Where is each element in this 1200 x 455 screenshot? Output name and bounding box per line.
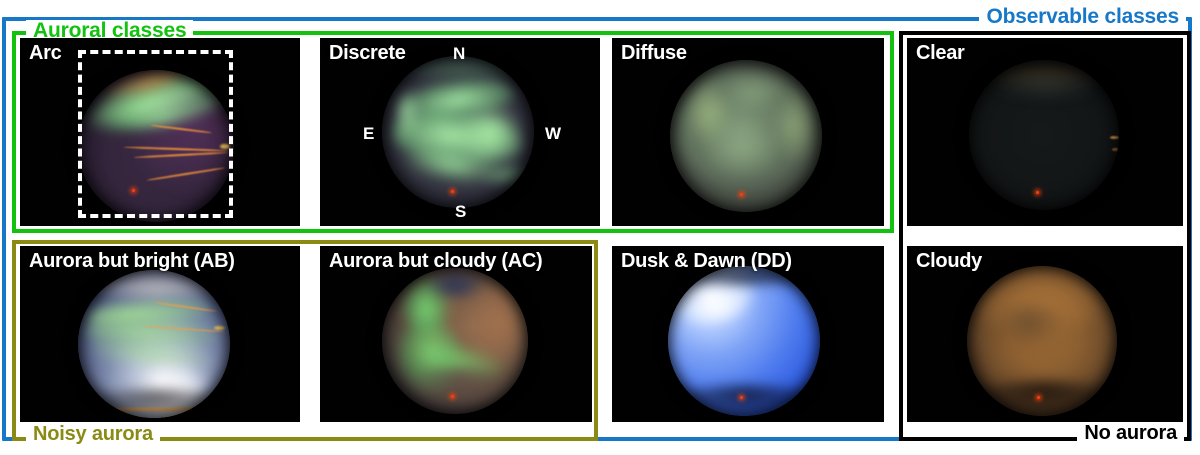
panel-aurora-but-bright[interactable]: Aurora but bright (AB) xyxy=(20,246,300,422)
panel-caption-cloudy: Cloudy xyxy=(916,250,982,273)
compass-label-north: N xyxy=(453,44,465,64)
panel-caption-discrete: Discrete xyxy=(329,42,406,65)
panel-dusk-dawn[interactable]: Dusk & Dawn (DD) xyxy=(612,246,884,422)
compass-label-south: S xyxy=(455,202,466,222)
panel-caption-arc: Arc xyxy=(29,42,61,65)
panel-discrete[interactable]: Discrete N E W S xyxy=(320,38,600,226)
panel-caption-diffuse: Diffuse xyxy=(621,42,687,65)
group-label-no-aurora: No aurora xyxy=(1077,423,1184,443)
aurora-class-figure: Observable classes Auroral classes Noisy… xyxy=(0,0,1200,455)
panel-cloudy[interactable]: Cloudy xyxy=(907,246,1183,422)
arc-region-of-interest xyxy=(78,50,233,218)
panel-clear[interactable]: Clear xyxy=(907,38,1183,226)
panel-caption-clear: Clear xyxy=(916,42,965,65)
panel-arc[interactable]: Arc xyxy=(20,38,300,226)
compass-label-east: E xyxy=(363,124,374,144)
compass-label-west: W xyxy=(545,124,561,144)
panel-caption-aurora-but-cloudy: Aurora but cloudy (AC) xyxy=(329,250,542,273)
panel-diffuse[interactable]: Diffuse xyxy=(612,38,884,226)
group-label-observable-classes: Observable classes xyxy=(979,6,1186,27)
panel-caption-dusk-dawn: Dusk & Dawn (DD) xyxy=(621,250,792,273)
panel-caption-aurora-but-bright: Aurora but bright (AB) xyxy=(29,250,235,273)
group-label-noisy-aurora: Noisy aurora xyxy=(26,424,160,444)
panel-aurora-but-cloudy[interactable]: Aurora but cloudy (AC) xyxy=(320,246,592,422)
